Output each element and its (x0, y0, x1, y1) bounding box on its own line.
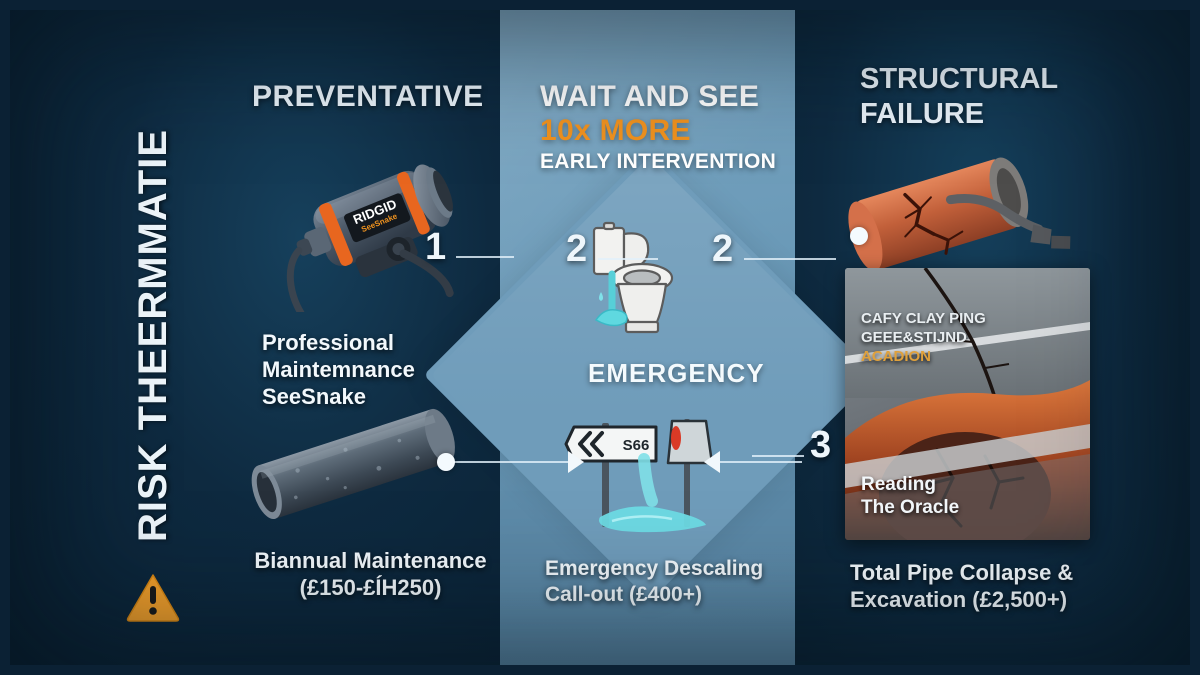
leaking-toilet-illustration (582, 220, 692, 345)
cracked-clay-pipe-illustration (845, 138, 1085, 288)
connector-line-pipe-to-diamond (448, 461, 570, 463)
connector-line-2-left (598, 258, 658, 260)
photo-caption-line2: The Oracle (861, 497, 959, 520)
arrow-left-icon (704, 451, 720, 473)
caption-pro-line2: Maintemnance (262, 357, 415, 384)
photo-overlay-line2: GEEE&STIJND (861, 329, 986, 348)
connector-line-2-right (744, 258, 836, 260)
caption-emergency-line1: Emergency Descaling (545, 556, 763, 582)
step-number-3: 3 (810, 424, 831, 467)
photo-caption-line1: Reading (861, 474, 959, 497)
caption-total-pipe-collapse: Total Pipe Collapse & Excavation (£2,500… (850, 560, 1073, 614)
warning-triangle-icon (126, 572, 180, 622)
caption-emergency-descaling: Emergency Descaling Call-out (£400+) (545, 556, 763, 607)
heading-wait-and-see: WAIT AND SEE 10x MORE EARLY INTERVENTION (540, 80, 776, 174)
step-number-2-right: 2 (712, 228, 733, 271)
road-sign-code-label: S66 (623, 437, 650, 454)
vertical-title-text: RISK THEERMMATIE (132, 128, 177, 541)
caption-emergency-line2: Call-out (£400+) (545, 582, 763, 608)
infographic-canvas: RISK THEERMMATIE PREVENTATIVE WAIT AND S… (0, 0, 1200, 675)
photo-caption-reading-the-oracle: Reading The Oracle (861, 474, 959, 520)
caption-biannual-maintenance: Biannual Maintenance (£150-£ÍH250) (243, 548, 498, 602)
connector-line-diamond-to-right (718, 461, 802, 463)
heading-structural-failure: STRUCTURAL FAILURE (860, 62, 1058, 133)
emergency-label: EMERGENCY (588, 358, 765, 389)
caption-biannual-line1: Biannual Maintenance (243, 548, 498, 575)
collapsed-pipe-photo-card: CAFY CLAY PING GEEE&STIJND ACADION Readi… (845, 268, 1090, 540)
heading-structural-line2: FAILURE (860, 97, 1058, 132)
caption-biannual-line2: (£150-£ÍH250) (243, 575, 498, 602)
heading-wait-line3: EARLY INTERVENTION (540, 150, 776, 174)
step-number-1: 1 (425, 226, 446, 269)
arrow-right-icon (568, 451, 584, 473)
seesnake-inspection-camera-illustration: RIDGID SeeSnake (270, 132, 490, 312)
connector-dot-pipe (437, 453, 455, 471)
caption-pro-line1: Professional (262, 330, 415, 357)
heading-structural-line1: STRUCTURAL (860, 62, 1058, 97)
connector-line-3 (752, 455, 804, 457)
caption-total-line2: Excavation (£2,500+) (850, 587, 1073, 614)
step-number-2-left: 2 (566, 228, 587, 271)
heading-wait-line1: WAIT AND SEE (540, 80, 776, 114)
vertical-title: RISK THEERMMATIE (118, 100, 190, 570)
photo-overlay-line1: CAFY CLAY PING (861, 310, 986, 329)
photo-overlay-line3: ACADION (861, 348, 986, 367)
heading-wait-line2: 10x MORE (540, 114, 776, 148)
photo-overlay-text: CAFY CLAY PING GEEE&STIJND ACADION (861, 310, 986, 367)
connector-line-1 (456, 256, 514, 258)
connector-dot-broken-pipe (850, 227, 868, 245)
caption-total-line1: Total Pipe Collapse & (850, 560, 1073, 587)
heading-preventative: PREVENTATIVE (252, 80, 484, 114)
